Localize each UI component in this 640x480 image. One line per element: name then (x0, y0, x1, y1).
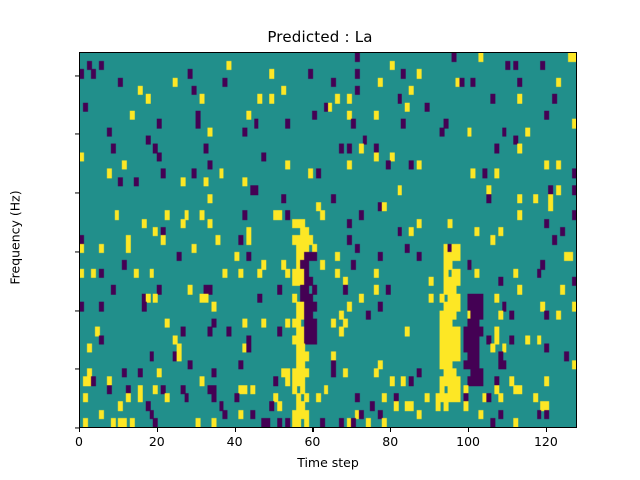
x-tick-mark (235, 428, 236, 432)
x-tick-label: 20 (117, 434, 197, 449)
y-tick-mark (75, 192, 79, 193)
x-axis-label: Time step (79, 455, 577, 470)
x-tick-mark (312, 428, 313, 432)
y-axis-label: Frequency (Hz) (8, 50, 23, 426)
x-tick-label: 60 (272, 434, 352, 449)
y-tick-mark (75, 251, 79, 252)
y-tick-mark (75, 369, 79, 370)
y-tick-mark (75, 310, 79, 311)
x-tick-label: 100 (428, 434, 508, 449)
y-tick-mark (75, 75, 79, 76)
x-tick-mark (157, 428, 158, 432)
x-tick-mark (546, 428, 547, 432)
x-tick-mark (79, 428, 80, 432)
x-tick-label: 80 (350, 434, 430, 449)
x-tick-mark (390, 428, 391, 432)
page-title: Predicted : La (0, 28, 640, 46)
y-tick-mark (75, 134, 79, 135)
x-tick-label: 120 (506, 434, 586, 449)
heatmap-axes (79, 52, 577, 428)
x-tick-mark (468, 428, 469, 432)
x-tick-label: 0 (39, 434, 119, 449)
x-tick-label: 40 (195, 434, 275, 449)
figure-canvas: Predicted : La Frequency (Hz) Time step … (0, 0, 640, 480)
spectrogram-heatmap (80, 53, 576, 427)
